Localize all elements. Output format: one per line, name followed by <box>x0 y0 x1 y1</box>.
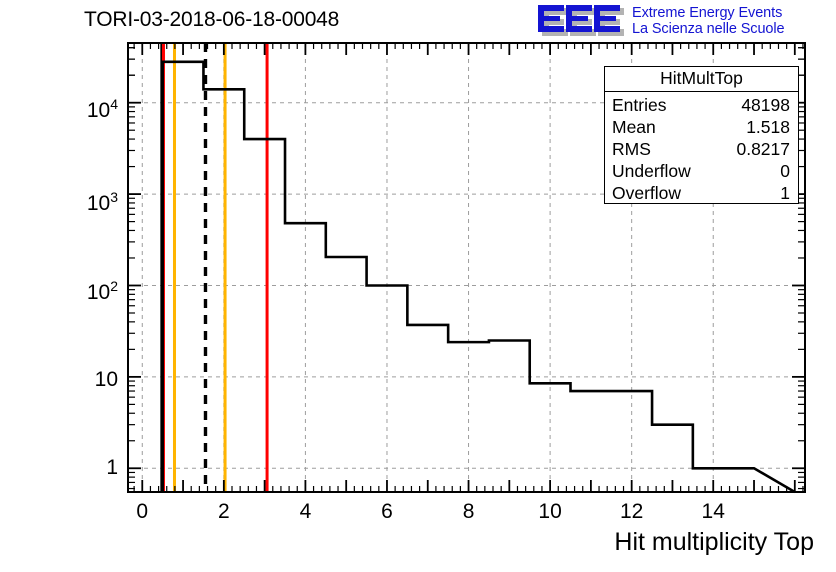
x-tick-label-0: 0 <box>102 500 182 524</box>
stats-row: Underflow0 <box>605 160 798 182</box>
x-tick-label-8: 8 <box>429 500 509 524</box>
y-tick-label-10: 10 <box>18 368 118 392</box>
y-tick-label-1e3: 103 <box>18 189 118 216</box>
x-tick-label-2: 2 <box>184 500 264 524</box>
x-tick-label-4: 4 <box>265 500 345 524</box>
page-title: TORI-03-2018-06-18-00048 <box>84 8 339 32</box>
stats-row-value: 0.8217 <box>736 138 790 160</box>
stats-row-value: 1.518 <box>746 116 790 138</box>
x-tick-label-12: 12 <box>592 500 672 524</box>
stats-row-value: 48198 <box>741 94 790 116</box>
y-tick-label-1e2: 102 <box>18 278 118 305</box>
x-tick-label-6: 6 <box>347 500 427 524</box>
stats-row-key: Overflow <box>612 182 681 204</box>
eee-caption-line2: La Scienza nelle Scuole <box>632 21 784 37</box>
stats-row-key: RMS <box>612 138 651 160</box>
stats-row: Entries48198 <box>605 94 798 116</box>
stats-row-key: Underflow <box>612 160 691 182</box>
eee-logo-caption: Extreme Energy Events La Scienza nelle S… <box>632 5 784 37</box>
y-tick-label-1e4: 104 <box>18 96 118 123</box>
x-tick-label-10: 10 <box>510 500 590 524</box>
plot-canvas: TORI-03-2018-06-18-00048 <box>0 0 836 572</box>
stats-box: HitMultTop Entries48198Mean1.518RMS0.821… <box>604 66 799 204</box>
stats-row-value: 1 <box>780 182 790 204</box>
x-tick-label-14: 14 <box>673 500 753 524</box>
stats-box-title: HitMultTop <box>605 68 798 92</box>
stats-box-rows: Entries48198Mean1.518RMS0.8217Underflow0… <box>605 94 798 204</box>
stats-row: Overflow1 <box>605 182 798 204</box>
stats-row: RMS0.8217 <box>605 138 798 160</box>
y-tick-label-1: 1 <box>18 456 118 480</box>
eee-logo-icon <box>537 3 627 39</box>
x-axis-title: Hit multiplicity Top <box>614 528 814 557</box>
stats-row-key: Mean <box>612 116 656 138</box>
stats-row-value: 0 <box>780 160 790 182</box>
stats-row-key: Entries <box>612 94 666 116</box>
stats-row: Mean1.518 <box>605 116 798 138</box>
eee-caption-line1: Extreme Energy Events <box>632 5 784 21</box>
